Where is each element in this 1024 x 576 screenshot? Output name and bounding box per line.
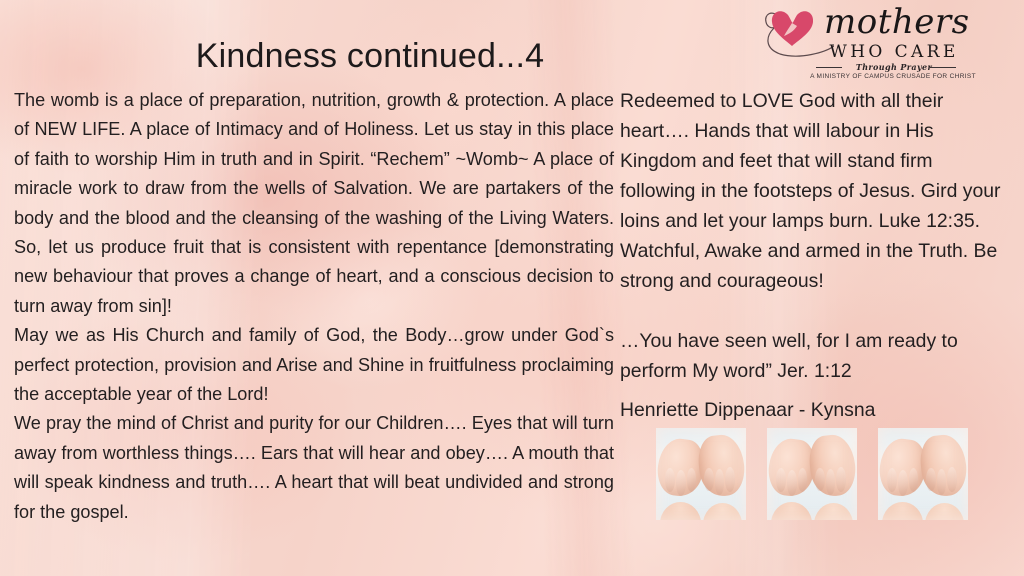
photo-vignette [878,428,968,520]
photo-vignette [656,428,746,520]
photo-vignette [767,428,857,520]
page-title: Kindness continued...4 [0,37,740,76]
photo-strip [656,428,968,520]
logo-who-care-text: WHO CARE [820,42,968,62]
author-byline: Henriette Dippenaar - Kynsna [620,396,875,424]
left-paragraph-1: The womb is a place of preparation, nutr… [14,86,614,321]
baby-hands-photo-3 [878,428,968,520]
mothers-who-care-logo: mothers WHO CARE Through Prayer A MINIST… [754,4,970,82]
right-text-column: Redeemed to LOVE God with all their hear… [620,86,1012,386]
baby-hands-photo-1 [656,428,746,520]
right-paragraph-2: …You have seen well, for I am ready to p… [620,326,1012,386]
left-paragraph-2: May we as His Church and family of God, … [14,321,614,409]
baby-hands-photo-2 [767,428,857,520]
logo-script-word: mothers [824,2,970,42]
left-paragraph-3: We pray the mind of Christ and purity fo… [14,409,614,527]
slide-canvas: Kindness continued...4 mothers WHO CARE … [0,0,1024,576]
logo-rule-right [930,67,956,68]
logo-ministry-text: A MINISTRY OF CAMPUS CRUSADE FOR CHRIST [810,73,976,80]
left-text-column: The womb is a place of preparation, nutr… [14,86,614,527]
right-paragraph-1: Redeemed to LOVE God with all their hear… [620,86,1012,296]
